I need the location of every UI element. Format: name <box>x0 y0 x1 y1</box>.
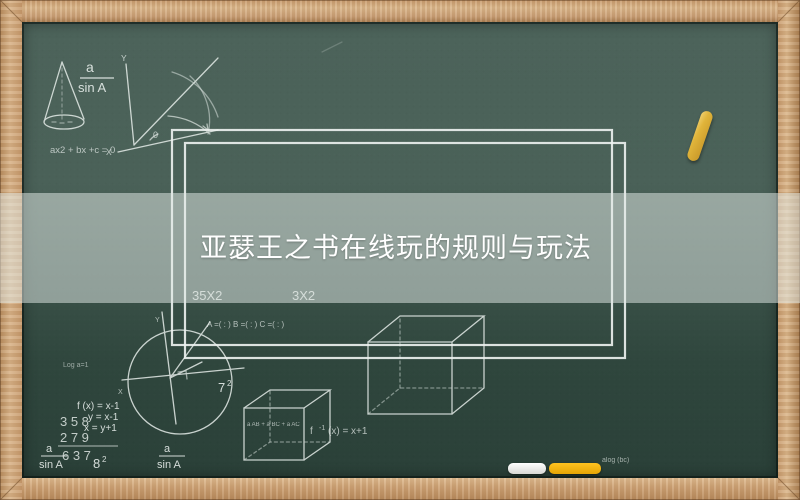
page-title: 亚瑟王之书在线玩的规则与玩法 <box>200 232 592 264</box>
chalk-ab-bc-ac: a AB + a BC + a AC <box>247 422 300 428</box>
chalk-axis-x: X <box>106 147 112 157</box>
chalk-matrix-row: A =( : ) B =( : ) C =( : ) <box>207 320 284 329</box>
white-chalk-stick <box>508 463 546 474</box>
chalk-sum-result: 6 3 7 <box>62 448 91 463</box>
chalk-frac2-den: sin A <box>39 459 64 471</box>
chalk-axis-y: Y <box>121 53 127 63</box>
chalk-8-exp: 2 <box>102 455 107 464</box>
title-overlay-band: 亚瑟王之书在线玩的规则与玩法 <box>0 193 800 303</box>
chalk-fx-2: y = x-1 <box>88 412 119 423</box>
chalkboard-banner: a sin A ax2 + bx +c = 0 Y X 0 f (x) = x-… <box>0 0 800 500</box>
chalk-frac-numerator: a <box>86 59 94 75</box>
chalk-sum-2: 2 7 9 <box>60 430 89 445</box>
chalk-log-label: Log a=1 <box>63 362 89 369</box>
chalk-fx-1: f (x) = x-1 <box>77 401 120 412</box>
chalk-frac2-num: a <box>46 443 53 455</box>
chalk-frac3-den: sin A <box>157 459 182 471</box>
chalk-sum-1: 3 5 8 <box>60 414 89 429</box>
chalk-theta: 0 <box>153 130 158 140</box>
chalk-inverse-tail: (x) = x+1 <box>328 426 368 437</box>
chalk-7-exp: 2 <box>227 379 232 388</box>
chalk-inverse-fx: f <box>310 426 313 437</box>
frame-bottom-ledge <box>0 478 800 500</box>
chalk-alog: alog (bc) <box>602 457 629 464</box>
chalk-circle-x: X <box>118 389 123 396</box>
angle-construction-diagram <box>118 58 218 152</box>
chalk-frac-denominator: sin A <box>78 80 107 95</box>
cube-diagram-right <box>368 316 484 414</box>
chalk-frac3-num: a <box>164 443 171 455</box>
chalk-fx-3: x = y+1 <box>84 423 117 434</box>
cone-diagram <box>44 62 84 129</box>
chalk-8: 8 <box>93 456 100 471</box>
chalk-inverse-exp: -1 <box>319 425 325 432</box>
chalk-7: 7 <box>218 380 225 395</box>
frame-top-wood <box>0 0 800 22</box>
circle-axis-diagram <box>122 312 244 454</box>
chalk-circle-y: Y <box>155 317 160 324</box>
yellow-chalk-stick <box>549 463 601 474</box>
